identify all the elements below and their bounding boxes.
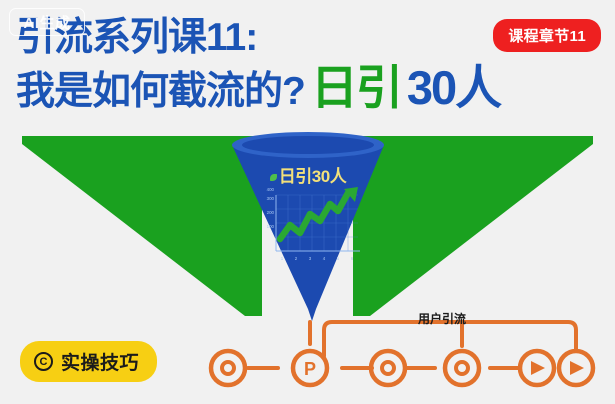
svg-text:6: 6 [351, 256, 354, 261]
svg-text:400: 400 [267, 187, 275, 192]
svg-text:100: 100 [267, 224, 275, 229]
kpi-blue-text: 30人 [407, 64, 500, 111]
svg-text:2: 2 [295, 256, 298, 261]
flow-node-3 [371, 351, 405, 385]
funnel-graphic: 日引30人 400 300 200 100 [228, 131, 388, 323]
funnel-wing-left [0, 136, 262, 316]
svg-text:300: 300 [267, 196, 275, 201]
user-flow-diagram: 用户引流 P [200, 300, 615, 388]
funnel-wing-right [353, 136, 615, 316]
poster-canvas: 引流系列课11: 我是如何截流的? 日引 30人 课程章节11 AI生成 日引3… [0, 0, 615, 404]
kpi-green-text: 日引 [311, 64, 401, 111]
flow-graphic: P [200, 300, 615, 388]
funnel-label-text: 日引30人 [279, 167, 346, 186]
practical-tips-label: 实操技巧 [61, 348, 139, 375]
mini-growth-chart: 400 300 200 100 1 2 3 4 5 6 [254, 187, 366, 273]
flow-node-2: P [293, 351, 327, 385]
copyright-icon: C [34, 352, 53, 371]
funnel-label-row: 日引30人 [228, 162, 388, 187]
svg-text:3: 3 [309, 256, 312, 261]
headline-row-2: 我是如何截流的? 日引 30人 [16, 64, 500, 111]
practical-tips-badge: C 实操技巧 [20, 341, 157, 382]
svg-text:P: P [304, 359, 316, 379]
svg-text:4: 4 [323, 256, 326, 261]
flow-node-4 [445, 351, 479, 385]
headline-line-1: 引流系列课11: [16, 18, 500, 57]
flow-node-1 [211, 351, 245, 385]
flow-node-6 [559, 351, 593, 385]
flow-label: 用户引流 [418, 310, 466, 327]
svg-text:200: 200 [267, 210, 275, 215]
svg-text:1: 1 [281, 256, 284, 261]
svg-text:5: 5 [337, 256, 340, 261]
leaf-icon [270, 174, 277, 181]
headline-block: 引流系列课11: 我是如何截流的? 日引 30人 [16, 18, 500, 111]
chapter-badge: 课程章节11 [493, 19, 601, 52]
headline-line-2: 我是如何截流的? [16, 72, 305, 111]
flow-node-5 [520, 351, 554, 385]
